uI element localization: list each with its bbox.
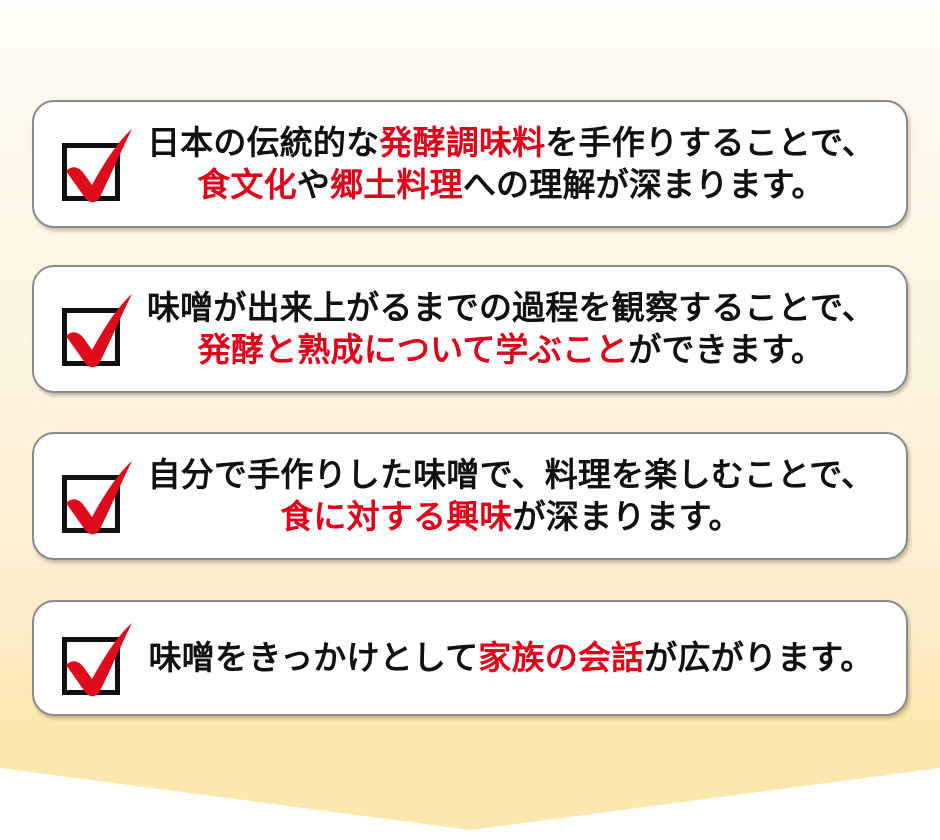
infographic-canvas: 日本の伝統的な発酵調味料を手作りすることで、 食文化や郷土料理への理解が深まりま…	[0, 0, 940, 840]
benefit-card-3-line-2: 食に対する興味が深まります。	[142, 496, 880, 538]
body-text: 味噌をきっかけとして	[149, 639, 479, 676]
benefit-card-2-line-1: 味噌が出来上がるまでの過程を観察することで、	[142, 287, 880, 329]
benefit-card-2-text: 味噌が出来上がるまでの過程を観察することで、 発酵と熟成について学ぶことができま…	[142, 287, 906, 371]
benefit-card-1-inner: 日本の伝統的な発酵調味料を手作りすることで、 食文化や郷土料理への理解が深まりま…	[34, 102, 906, 226]
benefit-card-1-line-2: 食文化や郷土料理への理解が深まります。	[142, 164, 880, 206]
checkbox-square	[62, 475, 120, 533]
body-text: や	[297, 166, 330, 203]
benefit-card-1-line-1: 日本の伝統的な発酵調味料を手作りすることで、	[142, 122, 880, 164]
checked-checkbox-icon	[46, 613, 142, 703]
highlighted-text: 発酵調味料	[379, 124, 545, 161]
checked-checkbox-icon	[46, 119, 142, 209]
highlighted-text: 家族の会話	[478, 639, 644, 676]
highlighted-text: 郷土料理	[330, 166, 463, 203]
highlighted-text: 発酵と熟成について学ぶこと	[198, 331, 629, 368]
checked-checkbox-icon	[46, 284, 142, 374]
body-text: が深まります。	[513, 498, 742, 535]
benefit-card-2: 味噌が出来上がるまでの過程を観察することで、 発酵と熟成について学ぶことができま…	[32, 265, 908, 393]
benefit-card-4: 味噌をきっかけとして家族の会話が広がります。	[32, 600, 908, 716]
body-text: ができます。	[628, 331, 824, 368]
body-text: 自分で手作りした味噌で、料理を楽しむことで、	[148, 456, 875, 493]
benefit-card-1-text: 日本の伝統的な発酵調味料を手作りすることで、 食文化や郷土料理への理解が深まりま…	[142, 122, 906, 206]
body-text: が広がります。	[644, 639, 873, 676]
body-text: への理解が深まります。	[463, 166, 825, 203]
benefit-card-4-line-1: 味噌をきっかけとして家族の会話が広がります。	[142, 637, 880, 679]
benefit-card-2-line-2: 発酵と熟成について学ぶことができます。	[142, 329, 880, 371]
benefit-card-2-inner: 味噌が出来上がるまでの過程を観察することで、 発酵と熟成について学ぶことができま…	[34, 267, 906, 391]
benefit-card-4-inner: 味噌をきっかけとして家族の会話が広がります。	[34, 602, 906, 714]
benefit-card-3-text: 自分で手作りした味噌で、料理を楽しむことで、 食に対する興味が深まります。	[142, 454, 906, 538]
benefit-card-3-inner: 自分で手作りした味噌で、料理を楽しむことで、 食に対する興味が深まります。	[34, 434, 906, 558]
highlighted-text: 食文化	[197, 166, 297, 203]
benefit-card-3: 自分で手作りした味噌で、料理を楽しむことで、 食に対する興味が深まります。	[32, 432, 908, 560]
checked-checkbox-icon	[46, 451, 142, 541]
benefit-card-3-line-1: 自分で手作りした味噌で、料理を楽しむことで、	[142, 454, 880, 496]
benefit-card-4-text: 味噌をきっかけとして家族の会話が広がります。	[142, 637, 906, 679]
highlighted-text: 食に対する興味	[280, 498, 512, 535]
checkbox-square	[62, 143, 120, 201]
benefit-card-1: 日本の伝統的な発酵調味料を手作りすることで、 食文化や郷土料理への理解が深まりま…	[32, 100, 908, 228]
body-text: 日本の伝統的な	[147, 124, 379, 161]
body-text: を手作りすることで、	[545, 124, 875, 161]
body-text: 味噌が出来上がるまでの過程を観察することで、	[147, 289, 875, 326]
checkbox-square	[62, 637, 120, 695]
checkbox-square	[62, 308, 120, 366]
